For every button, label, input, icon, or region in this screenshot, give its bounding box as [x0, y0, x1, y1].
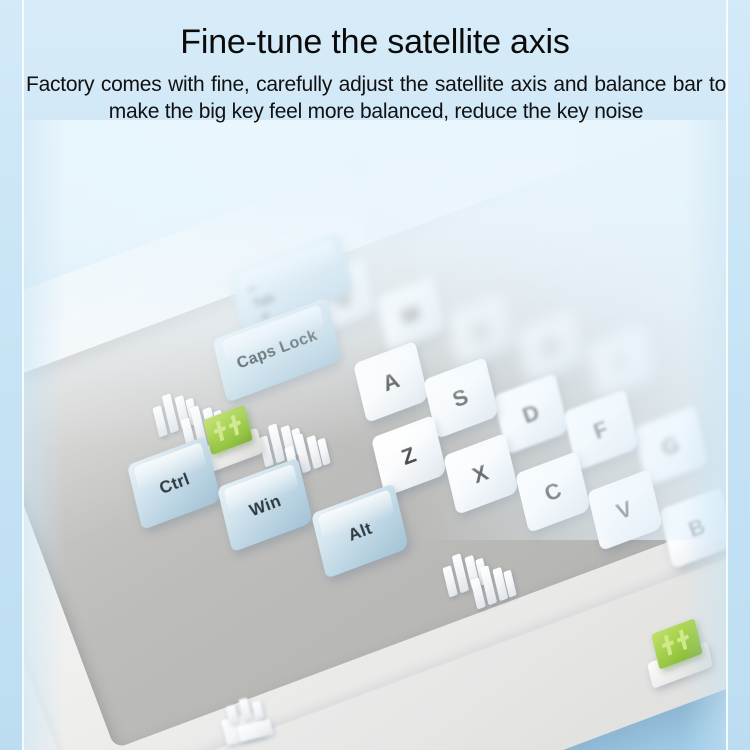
- keycap-legend: T: [611, 350, 631, 374]
- product-infographic-page: QQERTQWGDFBASZXCV⇤Tab⇥Caps LockCtrlWinAl…: [0, 0, 750, 750]
- keycap-legend: F: [591, 417, 612, 442]
- keycap-legend: G: [659, 433, 683, 460]
- keycap-legend: X: [470, 461, 492, 487]
- keycap-e[interactable]: E: [445, 292, 516, 369]
- keycap-legend: C: [542, 479, 565, 505]
- keycap-ctrl[interactable]: Ctrl: [127, 436, 221, 530]
- left-edge-strip: [0, 0, 22, 750]
- keycap-legend: A: [380, 369, 403, 395]
- header-block: Fine-tune the satellite axis Factory com…: [26, 20, 724, 125]
- keycap-legend: Q: [365, 207, 387, 231]
- keycap-alt[interactable]: Alt: [311, 483, 409, 578]
- keycap-legend: Q: [343, 149, 365, 173]
- keycap-r[interactable]: R: [515, 308, 586, 385]
- keycap-x[interactable]: X: [443, 433, 519, 515]
- keycap-win[interactable]: Win: [217, 458, 313, 553]
- keycap-b[interactable]: B: [659, 487, 726, 569]
- keycap-q[interactable]: Q: [342, 182, 411, 256]
- right-edge-divider: [726, 0, 728, 750]
- keycap-w[interactable]: W: [375, 276, 446, 353]
- keycap-layer: QQERTQWGDFBASZXCV⇤Tab⇥Caps LockCtrlWinAl…: [24, 120, 726, 750]
- keycap-legend: Z: [399, 443, 420, 468]
- product-photo: QQERTQWGDFBASZXCV⇤Tab⇥Caps LockCtrlWinAl…: [24, 120, 726, 750]
- keycap-legend: Caps Lock: [235, 328, 320, 373]
- page-description: Factory comes with fine, carefully adjus…: [26, 71, 726, 125]
- keycap-legend: W: [398, 301, 424, 328]
- keycap-legend: B: [686, 515, 709, 541]
- keycap-legend: Win: [247, 491, 283, 518]
- keycap-z[interactable]: Z: [371, 415, 447, 497]
- keycap-v[interactable]: V: [587, 469, 663, 551]
- keycap-a[interactable]: A: [353, 341, 429, 423]
- keycap-t[interactable]: T: [585, 324, 656, 401]
- right-edge-strip: [728, 0, 750, 750]
- page-title: Fine-tune the satellite axis: [26, 20, 724, 64]
- keycap-legend: V: [614, 497, 636, 523]
- keycap-c[interactable]: C: [515, 451, 591, 533]
- keycap-legend: S: [450, 385, 472, 411]
- keycap-legend: Ctrl: [157, 470, 192, 497]
- keycap-legend: E: [471, 318, 492, 343]
- keycap-legend: Alt: [346, 519, 374, 543]
- keycap-legend: R: [540, 333, 562, 358]
- keycap-legend: D: [520, 401, 543, 427]
- keycap-q[interactable]: Q: [320, 124, 389, 198]
